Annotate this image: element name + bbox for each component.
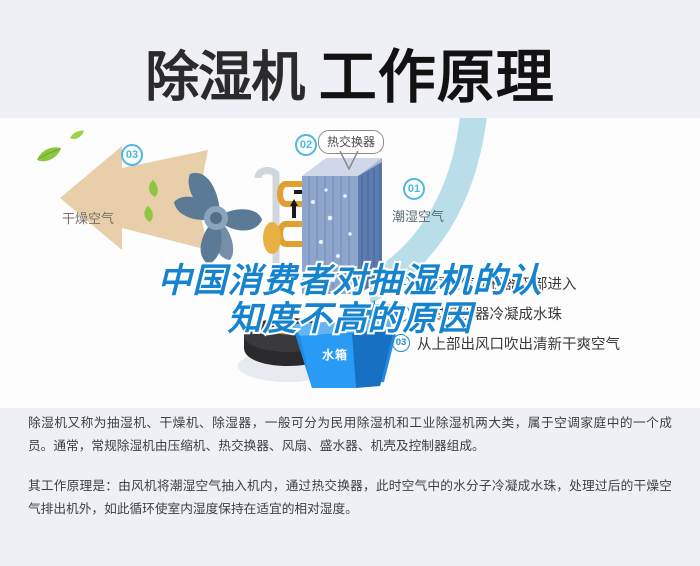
step-item: 01 潮湿空气从机器下部进入 xyxy=(392,268,692,298)
step-text: 潮湿空气从机器下部进入 xyxy=(417,273,577,294)
leaf-icon xyxy=(142,206,155,228)
fan-icon xyxy=(168,166,264,275)
label-dry-air: 干燥空气 xyxy=(62,208,114,227)
step-text: 从上部出风口吹出清新干爽空气 xyxy=(417,333,620,354)
badge-step-01-humid-air: 01 xyxy=(403,178,425,200)
page-title-part2: 工作原理 xyxy=(319,45,555,110)
page-root: 除湿机 工作原理 xyxy=(0,0,700,566)
label-humid-air: 潮湿空气 xyxy=(392,206,444,225)
leaf-icon xyxy=(36,146,62,169)
badge-step-02-heat-exchanger: 02 xyxy=(295,134,317,156)
step-text: 经过蒸发器冷凝成水珠 xyxy=(417,303,562,324)
water-tank-label: 水箱 xyxy=(322,346,348,363)
leaf-icon xyxy=(146,180,160,203)
page-title-part1: 除湿机 xyxy=(145,48,304,108)
badge-step-03-dry-air: 03 xyxy=(121,144,143,166)
step-item: 03 从上部出风口吹出清新干爽空气 xyxy=(392,328,692,358)
title-band: 除湿机 工作原理 xyxy=(0,0,700,118)
callout-tail-icon xyxy=(338,151,360,178)
step-list: 01 潮湿空气从机器下部进入 02 经过蒸发器冷凝成水珠 03 从上部出风口吹出… xyxy=(392,268,692,358)
step-badge: 03 xyxy=(392,334,410,352)
page-title: 除湿机 工作原理 xyxy=(0,30,700,114)
diagram-panel: 水箱 03 02 01 干燥空气 潮湿空气 热交换器 01 潮湿空气从机器下部进… xyxy=(0,118,700,408)
leaf-icon xyxy=(70,128,85,146)
body-paragraph-2: 其工作原理是：由风机将潮湿空气抽入机内，通过热交换器，此时空气中的水分子冷凝成水… xyxy=(28,475,672,521)
step-item: 02 经过蒸发器冷凝成水珠 xyxy=(392,298,692,328)
body-copy: 除湿机又称为抽湿机、干燥机、除湿器，一般可分为民用除湿机和工业除湿机两大类，属于… xyxy=(0,412,700,521)
step-badge: 02 xyxy=(392,304,410,322)
step-badge: 01 xyxy=(392,274,410,292)
body-paragraph-1: 除湿机又称为抽湿机、干燥机、除湿器，一般可分为民用除湿机和工业除湿机两大类，属于… xyxy=(28,412,672,458)
